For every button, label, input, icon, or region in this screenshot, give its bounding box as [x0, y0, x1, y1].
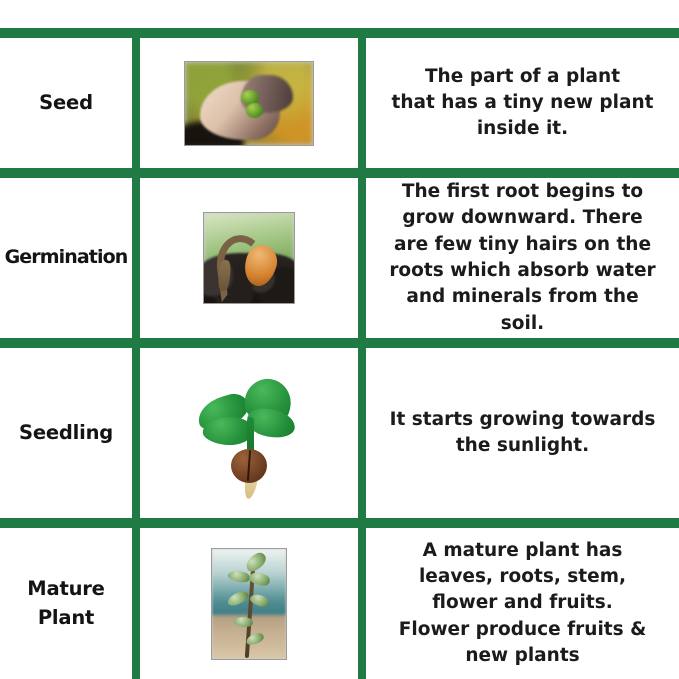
image-cell-seedling [136, 338, 362, 518]
image-wrapper [140, 178, 358, 338]
table-row: Seedling [0, 338, 679, 518]
image-wrapper [140, 38, 358, 168]
description-text: The first root begins to grow downward. … [366, 179, 679, 337]
stage-cell-seedling: Seedling [0, 338, 136, 518]
table-row: Germination The first root begi [0, 168, 679, 338]
stage-label: Germination [0, 244, 132, 272]
mature-plant-photo [211, 548, 287, 660]
plant-life-cycle-table: Seed The part of [0, 28, 679, 679]
stage-cell-germination: Germination [0, 168, 136, 338]
stage-label: Seedling [0, 419, 132, 447]
description-cell-seedling: It starts growing towards the sunlight. [362, 338, 679, 518]
description-cell-germination: The first root begins to grow downward. … [362, 168, 679, 338]
description-cell-seed: The part of a plant that has a tiny new … [362, 28, 679, 168]
stage-label: Seed [0, 89, 132, 117]
description-text: It starts growing towards the sunlight. [366, 407, 679, 460]
image-cell-seed [136, 28, 362, 168]
plant-life-cycle-page: Seed The part of [0, 0, 679, 679]
stage-label: Mature Plant [0, 575, 132, 632]
image-wrapper [140, 528, 358, 679]
germinating-seed-photo [203, 212, 295, 304]
description-text: The part of a plant that has a tiny new … [366, 64, 679, 143]
description-text: A mature plant has leaves, roots, stem, … [366, 538, 679, 669]
table-row: Seed The part of [0, 28, 679, 168]
stage-cell-seed: Seed [0, 28, 136, 168]
description-cell-mature-plant: A mature plant has leaves, roots, stem, … [362, 518, 679, 679]
table-row: Mature Plant [0, 518, 679, 679]
hand-holding-seeds-photo [184, 61, 314, 146]
image-cell-mature-plant [136, 518, 362, 679]
seedling-illustration [195, 369, 303, 497]
stage-cell-mature-plant: Mature Plant [0, 518, 136, 679]
seed-shape [246, 103, 263, 118]
image-cell-germination [136, 168, 362, 338]
image-wrapper [140, 348, 358, 518]
